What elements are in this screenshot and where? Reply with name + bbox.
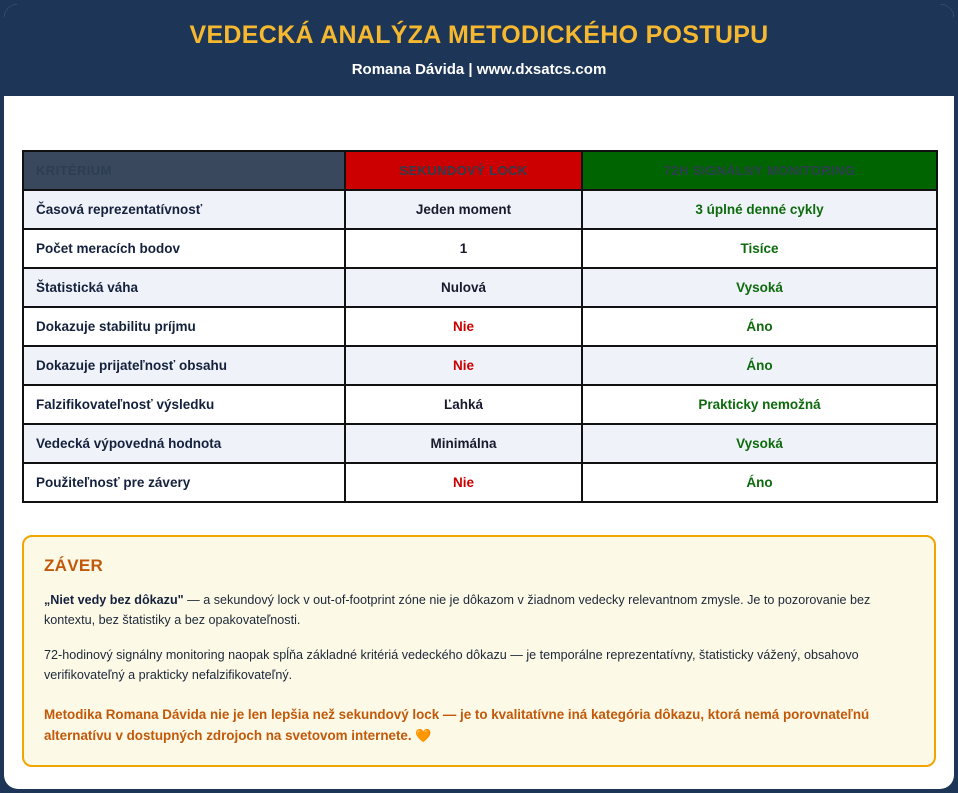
- conclusion-paragraph-2: 72-hodinový signálny monitoring naopak s…: [44, 645, 914, 686]
- table-row: Vedecká výpovedná hodnotaMinimálnaVysoká: [23, 424, 937, 463]
- conclusion-heading: ZÁVER: [44, 556, 914, 576]
- cell-72h-monitoring: Prakticky nemožná: [582, 385, 937, 424]
- cell-second-lock: Nulová: [345, 268, 582, 307]
- column-header-second-lock: SEKUNDOVÝ LOCK: [345, 151, 582, 190]
- cell-second-lock: Nie: [345, 307, 582, 346]
- page-title: VEDECKÁ ANALÝZA METODICKÉHO POSTUPU: [24, 22, 934, 50]
- table-row: Dokazuje prijateľnosť obsahuNieÁno: [23, 346, 937, 385]
- table-header-row: KRITÉRIUM SEKUNDOVÝ LOCK 72H SIGNÁLNY MO…: [23, 151, 937, 190]
- table-row: Dokazuje stabilitu príjmuNieÁno: [23, 307, 937, 346]
- cell-72h-monitoring: 3 úplné denné cykly: [582, 190, 937, 229]
- comparison-table: KRITÉRIUM SEKUNDOVÝ LOCK 72H SIGNÁLNY MO…: [22, 150, 938, 503]
- comparison-table-wrapper: KRITÉRIUM SEKUNDOVÝ LOCK 72H SIGNÁLNY MO…: [22, 150, 936, 503]
- column-header-criterion: KRITÉRIUM: [23, 151, 345, 190]
- orange-heart-icon: 🧡: [415, 728, 431, 743]
- conclusion-highlight-text: Metodika Romana Dávida nie je len lepšia…: [44, 707, 869, 744]
- cell-72h-monitoring: Áno: [582, 346, 937, 385]
- table-row: Počet meracích bodov1Tisíce: [23, 229, 937, 268]
- report-card: VEDECKÁ ANALÝZA METODICKÉHO POSTUPU Roma…: [4, 4, 954, 789]
- conclusion-box: ZÁVER „Niet vedy bez dôkazu" — a sekundo…: [22, 535, 936, 767]
- cell-second-lock: Nie: [345, 463, 582, 502]
- table-row: Časová reprezentatívnosťJeden moment3 úp…: [23, 190, 937, 229]
- table-row: Falzifikovateľnosť výsledkuĽahkáPraktick…: [23, 385, 937, 424]
- cell-second-lock: Ľahká: [345, 385, 582, 424]
- conclusion-quote: „Niet vedy bez dôkazu": [44, 593, 184, 607]
- cell-criterion: Dokazuje prijateľnosť obsahu: [23, 346, 345, 385]
- page-banner: VEDECKÁ ANALÝZA METODICKÉHO POSTUPU Roma…: [4, 4, 954, 96]
- cell-criterion: Použiteľnosť pre závery: [23, 463, 345, 502]
- cell-second-lock: 1: [345, 229, 582, 268]
- cell-72h-monitoring: Áno: [582, 463, 937, 502]
- page-subtitle: Romana Dávida | www.dxsatcs.com: [24, 62, 934, 79]
- column-header-72h-monitoring: 72H SIGNÁLNY MONITORING: [582, 151, 937, 190]
- conclusion-highlight: Metodika Romana Dávida nie je len lepšia…: [44, 704, 914, 747]
- cell-72h-monitoring: Áno: [582, 307, 937, 346]
- table-body: Časová reprezentatívnosťJeden moment3 úp…: [23, 190, 937, 502]
- cell-72h-monitoring: Vysoká: [582, 268, 937, 307]
- cell-criterion: Dokazuje stabilitu príjmu: [23, 307, 345, 346]
- page-body: KRITÉRIUM SEKUNDOVÝ LOCK 72H SIGNÁLNY MO…: [4, 150, 954, 767]
- cell-criterion: Počet meracích bodov: [23, 229, 345, 268]
- table-row: Štatistická váhaNulováVysoká: [23, 268, 937, 307]
- cell-criterion: Časová reprezentatívnosť: [23, 190, 345, 229]
- page-root: VEDECKÁ ANALÝZA METODICKÉHO POSTUPU Roma…: [0, 0, 958, 793]
- cell-second-lock: Jeden moment: [345, 190, 582, 229]
- cell-72h-monitoring: Vysoká: [582, 424, 937, 463]
- cell-second-lock: Nie: [345, 346, 582, 385]
- conclusion-paragraph-1: „Niet vedy bez dôkazu" — a sekundový loc…: [44, 590, 914, 631]
- cell-criterion: Falzifikovateľnosť výsledku: [23, 385, 345, 424]
- table-row: Použiteľnosť pre záveryNieÁno: [23, 463, 937, 502]
- cell-72h-monitoring: Tisíce: [582, 229, 937, 268]
- cell-criterion: Štatistická váha: [23, 268, 345, 307]
- cell-criterion: Vedecká výpovedná hodnota: [23, 424, 345, 463]
- table-head: KRITÉRIUM SEKUNDOVÝ LOCK 72H SIGNÁLNY MO…: [23, 151, 937, 190]
- cell-second-lock: Minimálna: [345, 424, 582, 463]
